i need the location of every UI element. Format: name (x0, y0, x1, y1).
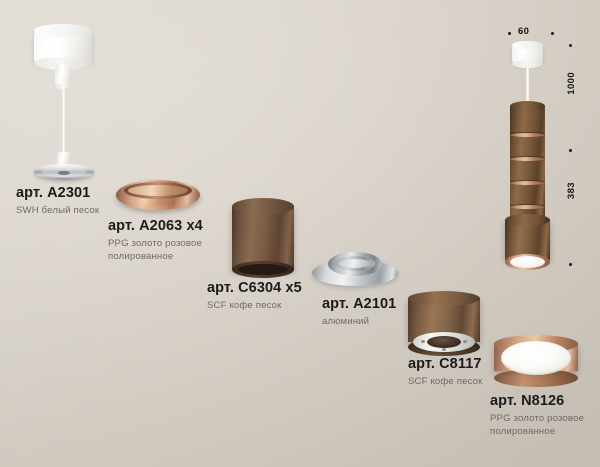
part-graphic-a2101 (312, 250, 398, 292)
label-a2301-finish: SWH белый песок (16, 205, 99, 218)
assembly-base-diffuser-icon (510, 256, 545, 268)
assembly-canopy-icon (512, 44, 543, 64)
housing-top-icon (408, 291, 480, 306)
label-n8126: арт. N8126 PPG золото розовое полированн… (490, 394, 594, 439)
assembly-decor-ring-icon (510, 205, 545, 209)
part-graphic-a2301 (22, 24, 106, 176)
assembled-pendant-graphic (496, 36, 568, 286)
dimension-width: 60 (518, 26, 529, 37)
label-a2101-article: арт. A2101 (322, 297, 396, 312)
canopy-neck-icon (55, 64, 71, 86)
aluminium-bore-icon (335, 256, 375, 271)
label-a2101-finish: алюминий (322, 316, 396, 329)
label-n8126-article: арт. N8126 (490, 394, 594, 409)
chrome-base-disc-icon (34, 164, 94, 180)
label-c6304-article: арт. C6304 x5 (207, 281, 302, 296)
assembly-decor-ring-icon (510, 181, 545, 185)
decor-ring-inner-icon (124, 182, 192, 199)
part-graphic-a2063 (116, 172, 200, 218)
housing-aperture-icon (427, 336, 461, 348)
dimension-dot-top (569, 44, 572, 47)
label-a2301-article: арт. A2301 (16, 186, 99, 201)
downlight-diffuser-icon (501, 341, 571, 375)
label-c8117-article: арт. C8117 (408, 357, 482, 372)
label-c6304: арт. C6304 x5 SCF кофе песок (207, 281, 302, 313)
assembly-decor-ring-icon (510, 133, 545, 137)
dimension-dot-middle (569, 149, 572, 152)
dimension-fixture-length: 383 (566, 182, 577, 199)
label-a2063-finish: PPG золото розовое полированное (108, 238, 216, 263)
part-graphic-c6304 (232, 198, 294, 280)
part-graphic-c8117 (408, 292, 480, 360)
label-c6304-finish: SCF кофе песок (207, 300, 302, 313)
plate-screw-icon (463, 340, 467, 343)
dimension-dot-width-right (551, 32, 554, 35)
cylinder-top-icon (232, 198, 294, 215)
assembly-decor-ring-icon (510, 157, 545, 161)
dimension-dot-bottom (569, 263, 572, 266)
cylinder-bore-icon (238, 264, 288, 275)
decor-ring-outer-icon (116, 180, 200, 210)
label-c8117-finish: SCF кофе песок (408, 376, 482, 389)
plate-screw-icon (421, 340, 425, 343)
part-graphic-n8126 (494, 334, 578, 388)
label-c8117: арт. C8117 SCF кофе песок (408, 357, 482, 389)
label-a2301: арт. A2301 SWH белый песок (16, 186, 99, 218)
suspension-wire-icon (62, 82, 66, 162)
product-diagram-canvas: 60 1000 383 арт. A2301 SWH белый песок а… (0, 0, 600, 467)
label-a2063: арт. A2063 x4 PPG золото розовое полиров… (108, 219, 216, 264)
ceiling-canopy-icon (34, 30, 92, 64)
label-a2101: арт. A2101 алюминий (322, 297, 396, 329)
dimension-dot-width-left (508, 32, 511, 35)
dimension-suspension-length: 1000 (566, 72, 577, 95)
label-a2063-article: арт. A2063 x4 (108, 219, 216, 234)
label-n8126-finish: PPG золото розовое полированное (490, 413, 594, 438)
